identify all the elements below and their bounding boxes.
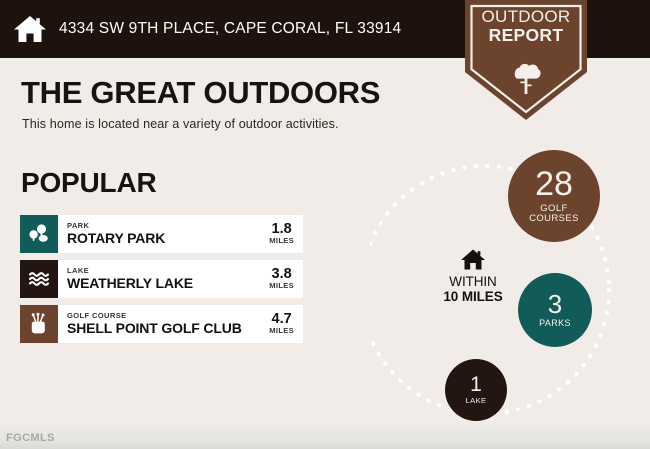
stat-label: GOLF COURSES [529,204,579,224]
list-item-distance: 4.7 MILES [269,305,303,343]
list-item-name: SHELL POINT GOLF CLUB [67,321,269,336]
water-waves-icon [27,267,51,291]
list-item-text: PARK ROTARY PARK [58,215,269,253]
stat-label-line-2: COURSES [529,213,579,224]
stat-value: 28 [535,168,573,200]
stat-value: 3 [548,292,562,317]
list-item[interactable]: PARK ROTARY PARK 1.8 MILES [20,215,303,253]
list-item-text: GOLF COURSE SHELL POINT GOLF CLUB [58,305,269,343]
list-item-text: LAKE WEATHERLY LAKE [58,260,269,298]
list-item-distance: 1.8 MILES [269,215,303,253]
distance-unit: MILES [269,326,294,336]
distance-value: 1.8 [272,222,292,237]
stat-value: 1 [470,375,482,395]
icon-tile [20,215,58,253]
outdoor-report-infographic: 4334 SW 9TH PLACE, CAPE CORAL, FL 33914 … [0,0,650,449]
footer-strip [0,425,650,449]
page-title: THE GREAT OUTDOORS [21,75,380,111]
within-radius-label: WITHIN 10 MILES [430,248,516,305]
distance-unit: MILES [269,281,294,291]
within-radius-diagram: 28 GOLF COURSES 3 PARKS 1 LAKE WITHIN 10… [370,135,650,435]
stat-label: LAKE [465,397,486,405]
icon-tile [20,305,58,343]
popular-section-heading: POPULAR [21,167,157,199]
property-address: 4334 SW 9TH PLACE, CAPE CORAL, FL 33914 [59,20,401,38]
distance-value: 3.8 [272,267,292,282]
stat-circle-golf-courses[interactable]: 28 GOLF COURSES [508,150,600,242]
list-item[interactable]: GOLF COURSE SHELL POINT GOLF CLUB 4.7 MI… [20,305,303,343]
stat-circle-parks[interactable]: 3 PARKS [518,273,592,347]
watermark: FGCMLS [6,432,55,444]
popular-list: PARK ROTARY PARK 1.8 MILES LAKE [20,215,303,350]
list-item-category: GOLF COURSE [67,312,269,320]
home-icon [460,248,486,271]
distance-value: 4.7 [272,312,292,327]
list-item-category: PARK [67,222,269,230]
within-line-2: 10 MILES [430,290,516,305]
list-item-category: LAKE [67,267,269,275]
list-item-name: ROTARY PARK [67,231,269,246]
distance-unit: MILES [269,236,294,246]
golf-bag-icon [27,312,51,336]
list-item-distance: 3.8 MILES [269,260,303,298]
park-trees-icon [27,222,51,246]
list-item[interactable]: LAKE WEATHERLY LAKE 3.8 MILES [20,260,303,298]
icon-tile [20,260,58,298]
stat-label: PARKS [539,319,571,328]
page-subtitle: This home is located near a variety of o… [22,117,339,131]
list-item-name: WEATHERLY LAKE [67,276,269,291]
outdoor-report-badge: OUTDOOR REPORT [465,0,587,120]
within-line-1: WITHIN [430,275,516,290]
stat-circle-lake[interactable]: 1 LAKE [445,359,507,421]
home-icon [13,14,47,44]
